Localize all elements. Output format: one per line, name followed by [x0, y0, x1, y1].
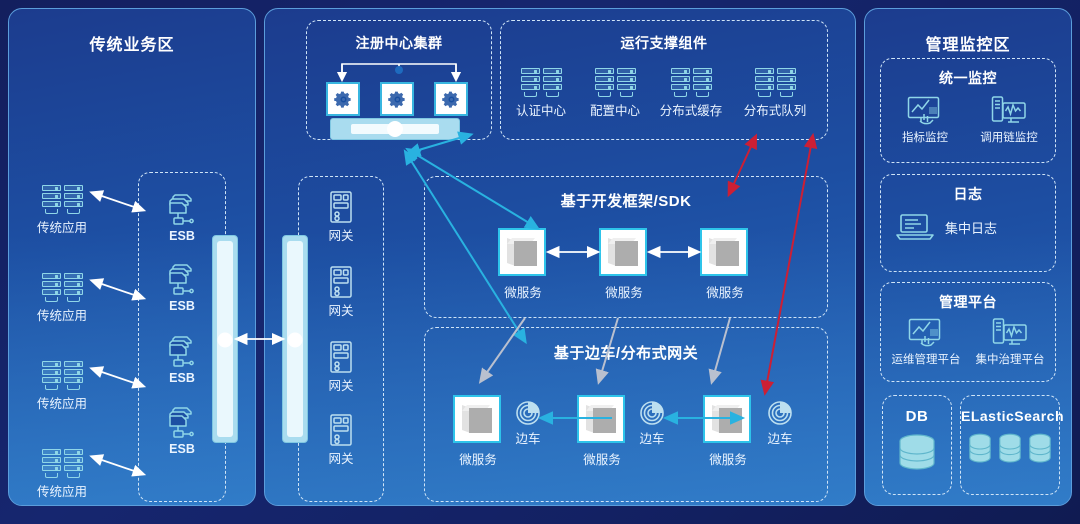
runtime-item-label: 认证中心 [504, 100, 578, 119]
runtime-item-label: 分布式缓存 [650, 100, 732, 119]
microservice-cube-icon [700, 228, 748, 276]
esb-label: ESB [146, 229, 218, 243]
gateway-bus-bar[interactable] [282, 235, 308, 443]
runtime-item-label: 分布式队列 [734, 100, 816, 119]
gateway-icon [327, 190, 355, 224]
database-cluster-icon [961, 432, 1059, 466]
sidecar-label: 边车 [508, 428, 548, 447]
governance-platform-item[interactable]: 集中治理平台 [968, 318, 1052, 367]
ops-platform-label: 运维管理平台 [884, 351, 968, 367]
database-icon [894, 433, 940, 473]
esb-bus-bar-knob[interactable] [218, 333, 233, 348]
architecture-diagram-canvas: 传统业务区 传统应用 传统应用 传统应用 传统应用 [0, 0, 1080, 524]
traditional-app-3[interactable]: 传统应用 [22, 361, 102, 412]
gateway-label: 网关 [306, 225, 376, 244]
sidecar-icon [639, 400, 665, 426]
registry-node-3[interactable] [434, 82, 468, 116]
server-rack-icon [22, 185, 102, 214]
esb-icon [165, 262, 199, 298]
server-rack-icon [650, 68, 732, 97]
microservice-cube-icon [453, 395, 501, 443]
traditional-app-label: 传统应用 [22, 305, 102, 324]
log-title: 日志 [881, 184, 1055, 204]
sidecar-icon [515, 400, 541, 426]
gateway-label: 网关 [306, 300, 376, 319]
sidecar-icon [767, 400, 793, 426]
esb-item-4[interactable]: ESB [146, 405, 218, 456]
elasticsearch-box[interactable]: ELasticSearch [960, 395, 1060, 495]
left-zone-title: 传统业务区 [9, 31, 255, 55]
registry-slider-knob[interactable] [387, 121, 403, 137]
gear-icon [434, 82, 468, 116]
sdk-microservice-2[interactable]: 微服务 [599, 228, 649, 301]
microservice-cube-icon [599, 228, 647, 276]
sidecar-zone-title: 基于边车/分布式网关 [425, 342, 827, 363]
unified-monitoring-title: 统一监控 [881, 68, 1055, 88]
microservice-label: 微服务 [453, 449, 503, 468]
server-rack-icon [22, 449, 102, 478]
registry-node-1[interactable] [326, 82, 360, 116]
esb-item-3[interactable]: ESB [146, 334, 218, 385]
sidecar-label: 边车 [632, 428, 672, 447]
management-platform-title: 管理平台 [881, 292, 1055, 312]
traditional-app-4[interactable]: 传统应用 [22, 449, 102, 500]
central-log-item[interactable]: 集中日志 [895, 212, 1045, 242]
sdk-zone-title: 基于开发框架/SDK [425, 190, 827, 211]
microservice-cube-icon [577, 395, 625, 443]
gateway-bus-bar-knob[interactable] [288, 333, 303, 348]
right-zone-title: 管理监控区 [865, 31, 1071, 55]
microservice-cube-icon [498, 228, 546, 276]
gateway-icon [327, 340, 355, 374]
microservice-label: 微服务 [703, 449, 753, 468]
gateway-label: 网关 [306, 448, 376, 467]
traditional-app-label: 传统应用 [22, 217, 102, 236]
registry-load-balancer[interactable] [330, 118, 460, 140]
gateway-item-1[interactable]: 网关 [306, 190, 376, 244]
microservice-cube-icon [703, 395, 751, 443]
gateway-icon [327, 413, 355, 447]
microservice-label: 微服务 [599, 282, 649, 301]
sidecar-1[interactable]: 边车 [508, 400, 548, 447]
server-rack-icon [578, 68, 652, 97]
runtime-item-config[interactable]: 配置中心 [578, 68, 652, 119]
sdk-microservice-1[interactable]: 微服务 [498, 228, 548, 301]
runtime-item-auth[interactable]: 认证中心 [504, 68, 578, 119]
ops-platform-item[interactable]: 运维管理平台 [884, 318, 968, 367]
central-log-label: 集中日志 [945, 218, 997, 237]
runtime-item-cache[interactable]: 分布式缓存 [650, 68, 732, 119]
db-box[interactable]: DB [882, 395, 952, 495]
esb-icon [165, 192, 199, 228]
sidecar-2[interactable]: 边车 [632, 400, 672, 447]
registry-node-2[interactable] [380, 82, 414, 116]
gateway-item-4[interactable]: 网关 [306, 413, 376, 467]
traditional-app-2[interactable]: 传统应用 [22, 273, 102, 324]
db-title: DB [883, 408, 951, 425]
gateway-item-2[interactable]: 网关 [306, 265, 376, 319]
traditional-app-1[interactable]: 传统应用 [22, 185, 102, 236]
governance-platform-label: 集中治理平台 [968, 351, 1052, 367]
trace-monitor-icon [992, 318, 1028, 348]
server-rack-icon [734, 68, 816, 97]
gateway-label: 网关 [306, 375, 376, 394]
microservice-label: 微服务 [700, 282, 750, 301]
runtime-support-title: 运行支撑组件 [501, 33, 827, 53]
trace-monitor-label: 调用链监控 [968, 129, 1050, 145]
sidecar-microservice-2[interactable]: 微服务 [577, 395, 627, 468]
esb-bus-bar[interactable] [212, 235, 238, 443]
esb-label: ESB [146, 299, 218, 313]
microservice-label: 微服务 [498, 282, 548, 301]
gateway-item-3[interactable]: 网关 [306, 340, 376, 394]
metrics-monitor-label: 指标监控 [888, 129, 962, 145]
esb-label: ESB [146, 371, 218, 385]
elasticsearch-title: ELasticSearch [961, 408, 1059, 424]
laptop-log-icon [895, 212, 935, 242]
registry-bracket-arrows [306, 58, 492, 84]
gear-icon [326, 82, 360, 116]
sidecar-microservice-1[interactable]: 微服务 [453, 395, 503, 468]
trace-monitor-icon [991, 96, 1027, 126]
server-rack-icon [504, 68, 578, 97]
sidecar-3[interactable]: 边车 [760, 400, 800, 447]
runtime-item-label: 配置中心 [578, 100, 652, 119]
metrics-monitor-item[interactable]: 指标监控 [888, 96, 962, 145]
registry-cluster-title: 注册中心集群 [307, 33, 491, 53]
traditional-app-label: 传统应用 [22, 393, 102, 412]
sidecar-microservice-3[interactable]: 微服务 [703, 395, 753, 468]
trace-monitor-item[interactable]: 调用链监控 [968, 96, 1050, 145]
esb-item-1[interactable]: ESB [146, 192, 218, 243]
microservice-label: 微服务 [577, 449, 627, 468]
metrics-monitor-icon [908, 318, 944, 348]
gateway-icon [327, 265, 355, 299]
sdk-microservice-3[interactable]: 微服务 [700, 228, 750, 301]
server-rack-icon [22, 273, 102, 302]
metrics-monitor-icon [907, 96, 943, 126]
esb-item-2[interactable]: ESB [146, 262, 218, 313]
traditional-app-label: 传统应用 [22, 481, 102, 500]
esb-icon [165, 334, 199, 370]
runtime-item-queue[interactable]: 分布式队列 [734, 68, 816, 119]
server-rack-icon [22, 361, 102, 390]
sidecar-label: 边车 [760, 428, 800, 447]
gear-icon [380, 82, 414, 116]
esb-label: ESB [146, 442, 218, 456]
esb-icon [165, 405, 199, 441]
